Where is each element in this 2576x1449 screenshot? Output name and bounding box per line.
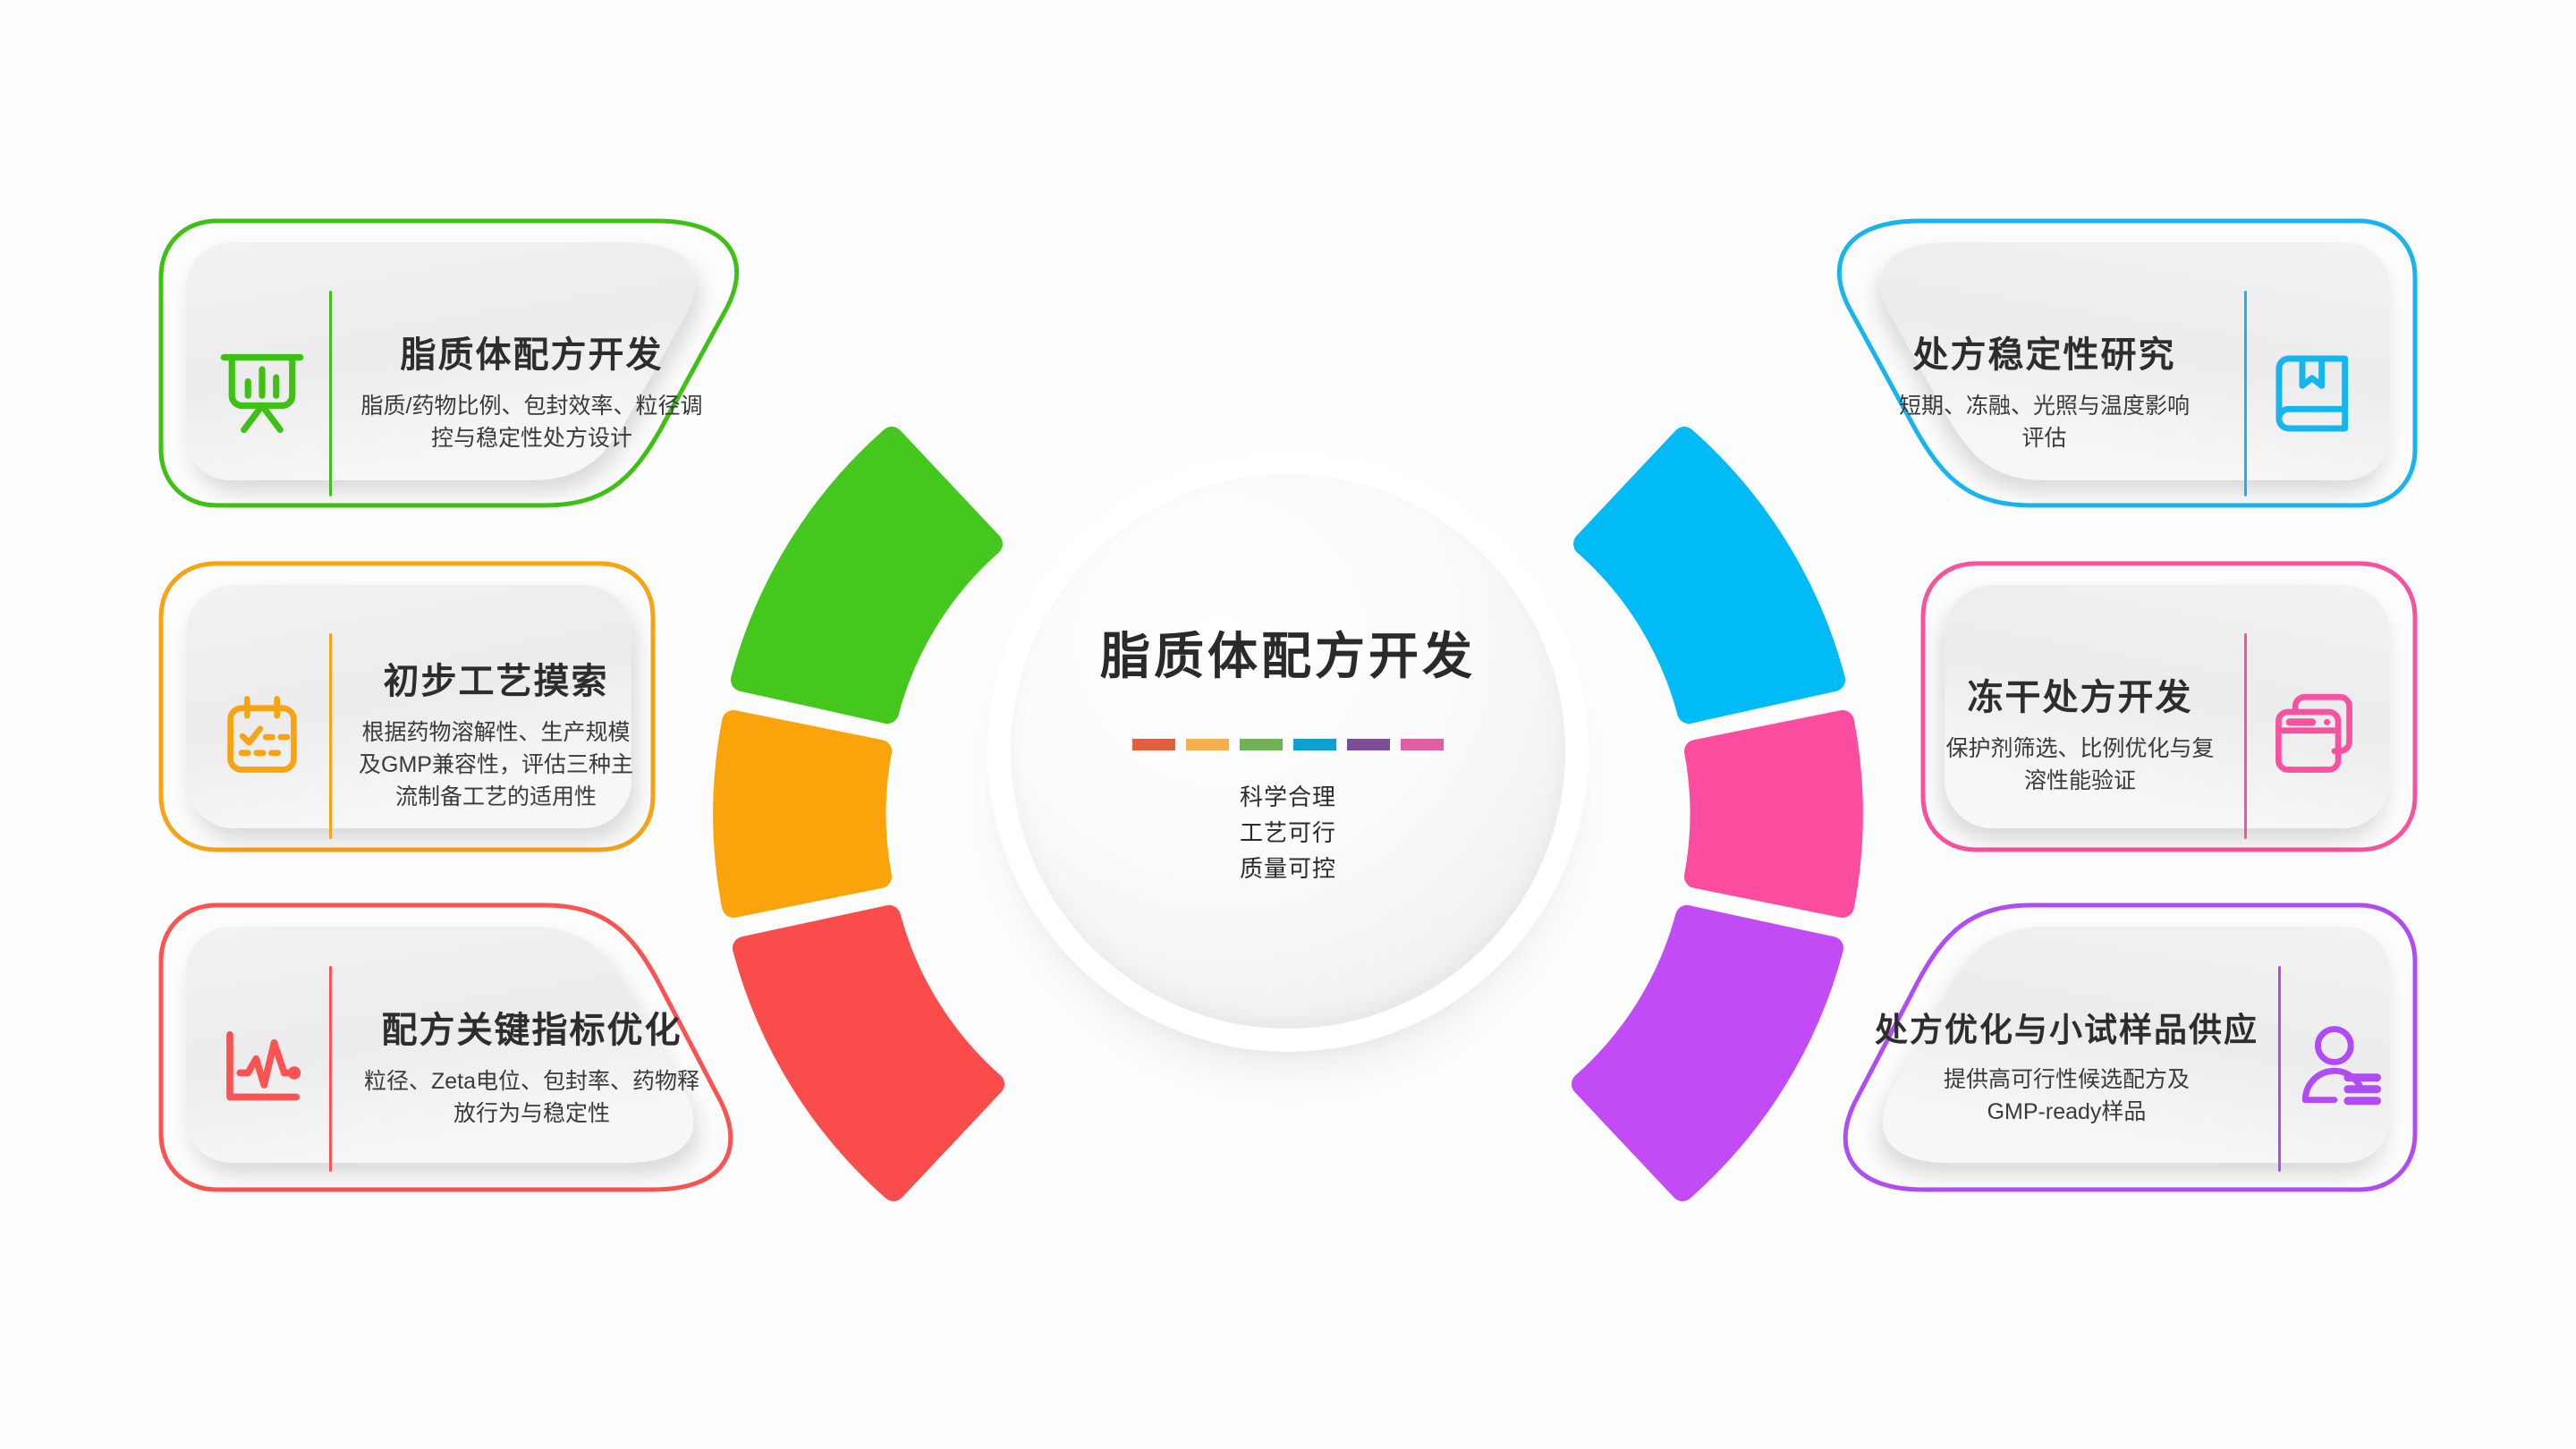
hub-bar-pink [1401,739,1444,750]
card-title: 冻干处方开发 [1968,675,2193,720]
card-formulation-stability-study[interactable]: 处方稳定性研究 短期、冻融、光照与温度影响评估 [1737,219,2417,568]
hub-bar-blue [1293,739,1336,750]
card-lipid-formulation-development[interactable]: 脂质体配方开发 脂质/药物比例、包封效率、粒径调控与稳定性处方设计 [159,219,839,568]
card-title: 初步工艺摸索 [384,659,609,704]
stacked-cards-icon [2247,691,2381,781]
card-lyophilized-formulation-development[interactable]: 冻干处方开发 保护剂筛选、比例优化与复溶性能验证 [1737,562,2417,911]
card-description: 粒径、Zeta电位、包封率、药物释放行为与稳定性 [353,1065,711,1131]
card-description: 短期、冻融、光照与温度影响评估 [1897,390,2192,455]
user-list-icon [2281,1022,2415,1115]
card-title: 处方优化与小试样品供应 [1875,1010,2258,1051]
hub-bar-purple [1347,739,1390,750]
hub-bar-orange-red [1132,739,1175,750]
hub-taglines: 科学合理 工艺可行 质量可控 [1240,779,1336,887]
card-description: 根据药物溶解性、生产规模及GMP兼容性，评估三种主流制备工艺的适用性 [352,716,640,814]
infographic-canvas: 脂质体配方开发 脂质/药物比例、包封效率、粒径调控与稳定性处方设计 [0,0,2576,1449]
card-key-formulation-metric-optimization[interactable]: 配方关键指标优化 粒径、Zeta电位、包封率、药物释放行为与稳定性 [159,894,839,1243]
line-chart-icon [195,1021,329,1117]
hub-tagline-1: 科学合理 [1240,779,1336,815]
calendar-check-icon [195,691,329,781]
hub-tagline-3: 质量可控 [1240,851,1336,886]
card-description: 提供高可行性候选配方及GMP-ready样品 [1919,1063,2215,1129]
card-description: 脂质/药物比例、包封效率、粒径调控与稳定性处方设计 [352,390,712,455]
card-title: 脂质体配方开发 [401,333,664,377]
card-description: 保护剂筛选、比例优化与复溶性能验证 [1936,733,2224,798]
presentation-chart-icon [195,345,329,442]
card-title: 配方关键指标优化 [382,1008,682,1053]
card-formulation-optimization-pilot-sample-supply[interactable]: 处方优化与小试样品供应 提供高可行性候选配方及GMP-ready样品 [1737,894,2417,1243]
book-bookmark-icon [2247,347,2381,440]
card-preliminary-process-exploration[interactable]: 初步工艺摸索 根据药物溶解性、生产规模及GMP兼容性，评估三种主流制备工艺的适用… [159,562,839,911]
center-hub: 脂质体配方开发 科学合理 工艺可行 质量可控 [1011,474,1565,1029]
hub-tagline-2: 工艺可行 [1240,815,1336,851]
hub-color-bars [1132,739,1444,750]
hub-bar-green [1240,739,1283,750]
hub-title: 脂质体配方开发 [1100,616,1476,689]
card-title: 处方稳定性研究 [1913,333,2176,377]
hub-bar-amber [1186,739,1229,750]
